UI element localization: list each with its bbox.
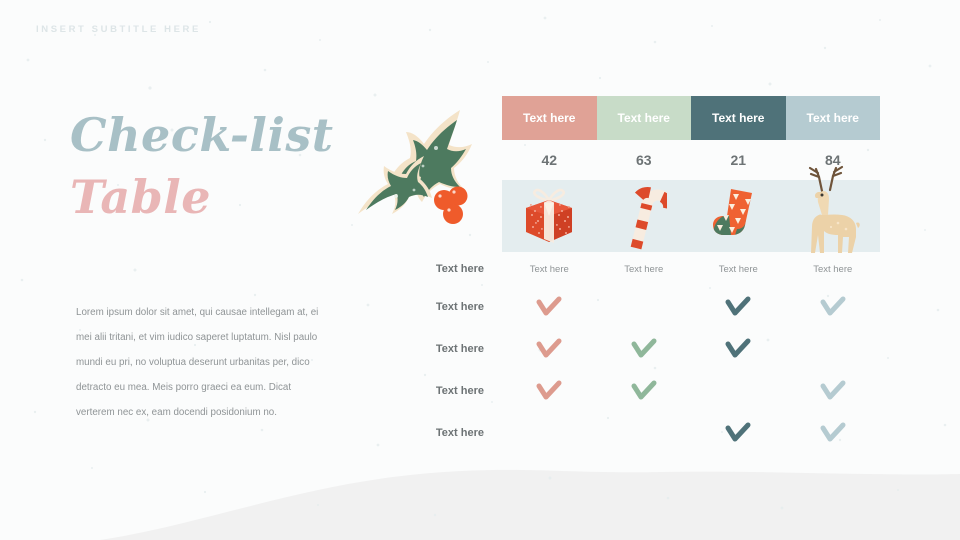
column-caption-2: Text here: [597, 252, 692, 286]
check-cell-r1c4[interactable]: [786, 286, 881, 328]
check-cell-r3c2[interactable]: [597, 370, 692, 412]
check-cell-r1c1[interactable]: [502, 286, 597, 328]
slide-canvas: INSERT SUBTITLE HERE Check-list Table Lo…: [0, 0, 960, 540]
check-cell-r2c3[interactable]: [691, 328, 786, 370]
column-value-2: 63: [597, 140, 692, 180]
icon-cell-2: [597, 180, 692, 252]
check-cell-r2c2[interactable]: [597, 328, 692, 370]
holly-branch-icon: [352, 104, 480, 244]
check-icon: [631, 380, 657, 402]
column-header-3[interactable]: Text here: [691, 96, 786, 140]
page-title-line-1: Check-list: [70, 104, 334, 166]
check-cell-r4c3[interactable]: [691, 412, 786, 454]
check-cell-r2c4[interactable]: [786, 328, 881, 370]
check-cell-r3c3[interactable]: [691, 370, 786, 412]
column-caption-1: Text here: [502, 252, 597, 286]
table-caption-row: Text here Text here Text here Text here …: [390, 252, 880, 286]
icon-cell-1: [502, 180, 597, 252]
page-title: Check-list Table: [70, 104, 334, 228]
check-icon: [536, 380, 562, 402]
check-icon: [725, 296, 751, 318]
page-title-line-2: Table: [70, 166, 334, 228]
column-caption-3: Text here: [691, 252, 786, 286]
column-value-3: 21: [691, 140, 786, 180]
body-paragraph: Lorem ipsum dolor sit amet, qui causae i…: [76, 300, 322, 425]
check-cell-r4c4[interactable]: [786, 412, 881, 454]
stocking-icon: [711, 185, 765, 247]
slide-subtitle: INSERT SUBTITLE HERE: [36, 24, 201, 35]
reindeer-icon: [802, 165, 864, 257]
check-cell-r3c4[interactable]: [786, 370, 881, 412]
check-cell-r1c2[interactable]: [597, 286, 692, 328]
column-caption-4: Text here: [786, 252, 881, 286]
table-row: Text here: [390, 370, 880, 412]
check-cell-r3c1[interactable]: [502, 370, 597, 412]
row-label-4: Text here: [390, 370, 502, 412]
check-icon: [820, 422, 846, 444]
table-row: Text here: [390, 328, 880, 370]
check-icon: [820, 380, 846, 402]
check-icon: [725, 338, 751, 360]
icon-cell-4: [786, 180, 881, 252]
check-cell-r1c3[interactable]: [691, 286, 786, 328]
check-cell-r4c2[interactable]: [597, 412, 692, 454]
candy-cane-icon: [621, 179, 667, 253]
row-label-3: Text here: [390, 328, 502, 370]
check-cell-r4c1[interactable]: [502, 412, 597, 454]
column-header-1[interactable]: Text here: [502, 96, 597, 140]
icon-cell-3: [691, 180, 786, 252]
row-label-5: Text here: [390, 412, 502, 454]
table-row: Text here: [390, 412, 880, 454]
check-icon: [536, 296, 562, 318]
check-icon: [536, 338, 562, 360]
check-cell-r2c1[interactable]: [502, 328, 597, 370]
column-header-4[interactable]: Text here: [786, 96, 881, 140]
gift-box-icon: [520, 186, 578, 246]
column-header-2[interactable]: Text here: [597, 96, 692, 140]
row-label-1: Text here: [390, 252, 502, 286]
row-label-2: Text here: [390, 286, 502, 328]
check-icon: [631, 338, 657, 360]
table-row: Text here: [390, 286, 880, 328]
check-icon: [820, 296, 846, 318]
column-value-1: 42: [502, 140, 597, 180]
check-icon: [725, 422, 751, 444]
